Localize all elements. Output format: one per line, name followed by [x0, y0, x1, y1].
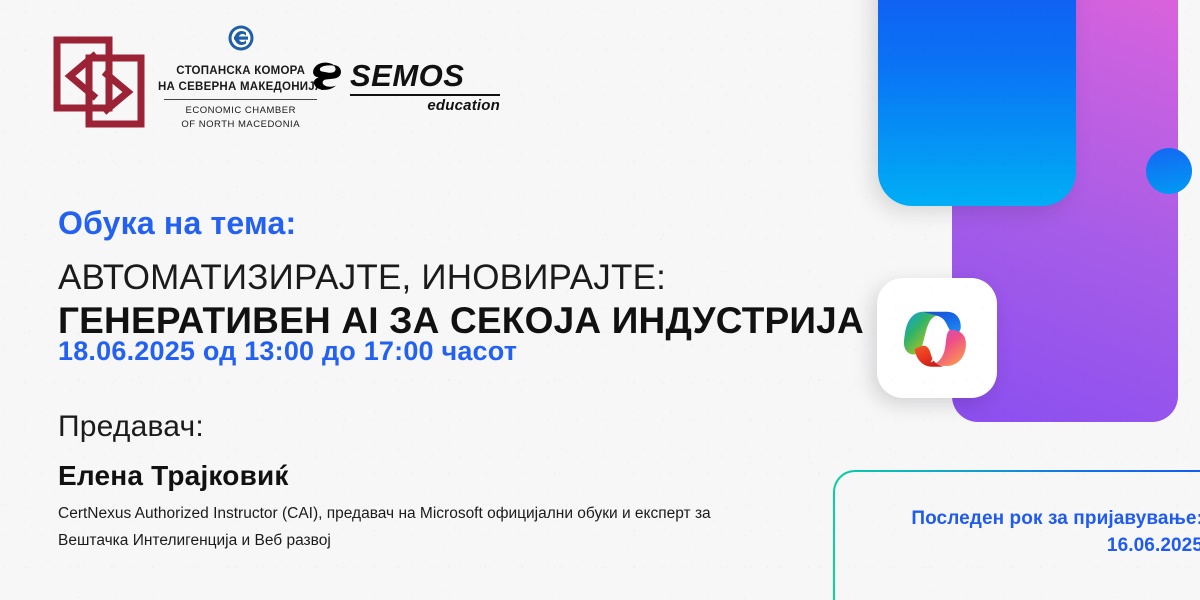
kicker-text: Обука на тема:	[58, 205, 296, 242]
blue-gradient-panel	[878, 0, 1076, 206]
semos-wordmark: SEMOS	[350, 60, 464, 91]
chamber-name-en-line1: ECONOMIC CHAMBER	[158, 104, 323, 118]
microsoft-copilot-tile	[877, 278, 997, 398]
semos-divider	[350, 94, 500, 96]
chamber-name-mk-line1: СТОПАНСКА КОМОРА	[158, 64, 323, 80]
chamber-divider	[164, 99, 317, 100]
speaker-bio: CertNexus Authorized Instructor (CAI), п…	[58, 501, 758, 554]
registration-deadline-inner: Последен рок за пријавување: 16.06.2025	[835, 472, 1200, 600]
event-datetime: 18.06.2025 од 13:00 до 17:00 часот	[58, 336, 517, 367]
chamber-name-mk-line2: НА СЕВЕРНА МАКЕДОНИЈА	[158, 80, 323, 96]
deadline-date: 16.06.2025	[835, 533, 1200, 560]
speaker-name: Елена Трајковиќ	[58, 460, 289, 492]
semos-subtitle: education	[310, 97, 500, 114]
registration-deadline-box: Последен рок за пријавување: 16.06.2025	[833, 470, 1200, 600]
chamber-name-en-line2: OF NORTH MACEDONIA	[158, 118, 323, 132]
chamber-text-block: СТОПАНСКА КОМОРА НА СЕВЕРНА МАКЕДОНИЈА E…	[158, 36, 323, 132]
speaker-label: Предавач:	[58, 410, 204, 444]
chamber-emblem-icon	[52, 36, 148, 128]
semos-education-logo: SEMOS education	[310, 60, 500, 114]
training-promo-banner: Последен рок за пријавување: 16.06.2025	[0, 0, 1200, 600]
blue-circle-dot	[1146, 148, 1192, 194]
semos-s-swirl-icon	[310, 61, 344, 91]
semos-wordmark-row: SEMOS	[310, 60, 500, 91]
chamber-seal-icon	[227, 24, 255, 52]
title-line-1: АВТОМАТИЗИРАЈТЕ, ИНОВИРАЈТЕ:	[58, 258, 666, 298]
deadline-label: Последен рок за пријавување:	[835, 506, 1200, 533]
microsoft-copilot-icon	[896, 297, 978, 379]
economic-chamber-logo: СТОПАНСКА КОМОРА НА СЕВЕРНА МАКЕДОНИЈА E…	[52, 36, 323, 132]
